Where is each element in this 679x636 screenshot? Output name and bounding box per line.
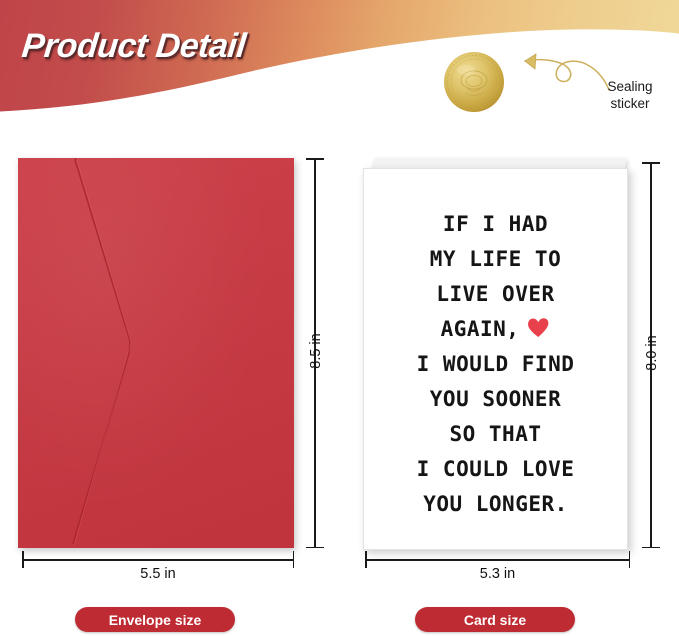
card-front-page: IF I HAD MY LIFE TO LIVE OVER AGAIN, I W…: [363, 168, 628, 550]
envelope-height-dimension: 8.5 in: [304, 158, 326, 548]
card-height-label: 8.0 in: [644, 323, 660, 383]
card-size-badge: Card size: [415, 607, 575, 632]
card-image: IF I HAD MY LIFE TO LIVE OVER AGAIN, I W…: [363, 158, 628, 548]
page-title: Product Detail: [20, 27, 248, 66]
card-line: YOU SOONER: [364, 382, 627, 417]
card-height-dimension: 8.0 in: [640, 162, 662, 548]
card-width-label: 5.3 in: [365, 566, 630, 582]
card-message: IF I HAD MY LIFE TO LIVE OVER AGAIN, I W…: [364, 207, 627, 522]
dimension-cap-top: [306, 158, 324, 160]
seal-label-line1: Sealing: [588, 78, 672, 95]
gold-seal-sticker-icon: [443, 51, 505, 113]
seal-label: Sealing sticker: [588, 78, 672, 112]
card-line: MY LIFE TO: [364, 242, 627, 277]
envelope-width-dimension: 5.5 in: [22, 556, 294, 578]
card-line: I WOULD FIND: [364, 347, 627, 382]
card-line: IF I HAD: [364, 207, 627, 242]
card-line: SO THAT: [364, 417, 627, 452]
seal-label-line2: sticker: [588, 95, 672, 112]
dimension-rule: [22, 559, 294, 561]
dimension-cap-bottom: [642, 547, 660, 549]
heart-icon: [526, 316, 550, 338]
envelope-size-badge: Envelope size: [75, 607, 235, 632]
dimension-rule: [365, 559, 630, 561]
card-width-dimension: 5.3 in: [365, 556, 630, 578]
envelope-width-label: 5.5 in: [22, 566, 294, 582]
card-line: YOU LONGER.: [364, 487, 627, 522]
envelope-height-label: 8.5 in: [308, 321, 324, 381]
card-line-with-heart: AGAIN,: [364, 312, 627, 347]
card-line: I COULD LOVE: [364, 452, 627, 487]
card-line-text: AGAIN,: [441, 317, 520, 341]
dimension-cap-bottom: [306, 547, 324, 549]
envelope-image: [18, 158, 294, 548]
dimension-cap-top: [642, 162, 660, 164]
card-line: LIVE OVER: [364, 277, 627, 312]
envelope-flap-seam: [18, 158, 294, 548]
